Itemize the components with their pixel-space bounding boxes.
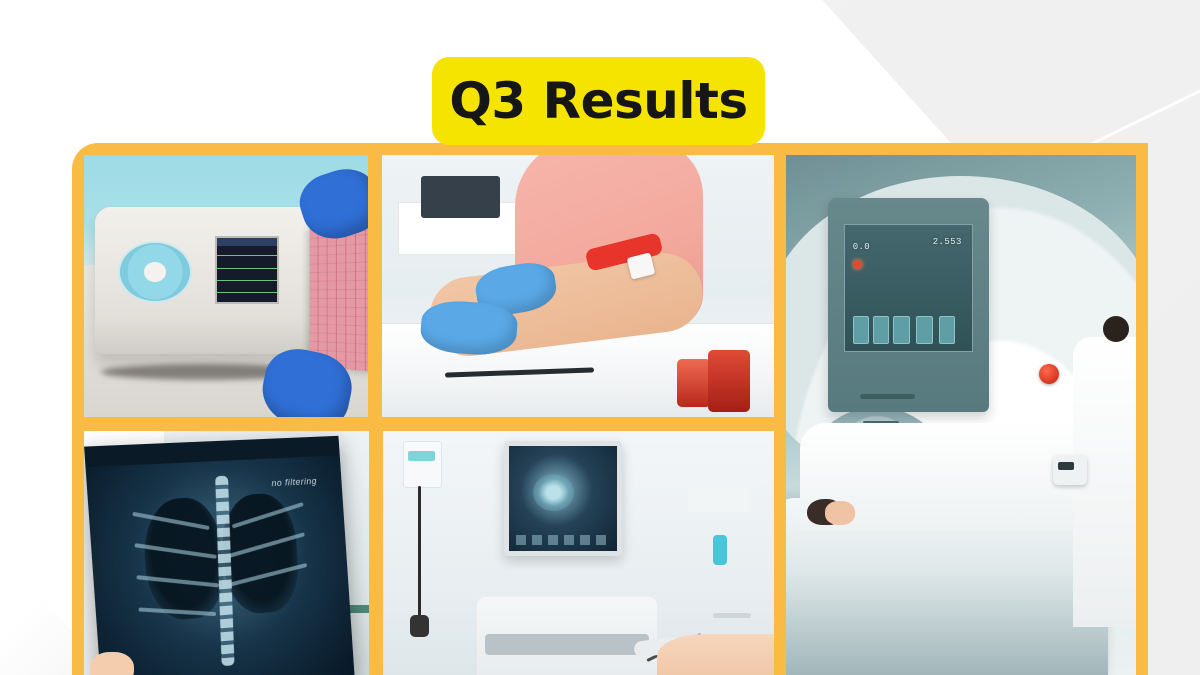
photo-ultrasound[interactable] (383, 431, 774, 675)
patient-face (825, 501, 855, 525)
sink-faucet (713, 613, 751, 618)
collage-top-row (84, 155, 774, 417)
wall-dispenser (403, 441, 442, 488)
collage-right-column: 0.0 2.553 (786, 155, 1136, 675)
ct-panel-vent (860, 394, 915, 399)
status-indicator-icon (853, 260, 862, 269)
xray-film-marking: no filtering (272, 476, 318, 488)
ct-panel-key[interactable] (916, 316, 932, 344)
ecg-screen (215, 236, 279, 304)
ecg-printout-paper (309, 219, 368, 374)
xray-film: no filtering (84, 436, 354, 675)
patient-abdomen (657, 634, 774, 675)
clinic-equipment-box (421, 176, 499, 218)
ecg-trace-line (217, 255, 277, 256)
ct-display-value-1: 0.0 (853, 242, 870, 252)
ct-panel-display: 0.0 2.553 (844, 224, 973, 353)
photo-ecg-machine[interactable] (84, 155, 368, 417)
collage-bottom-row: no filtering (84, 431, 774, 675)
ecg-trace-line (217, 292, 277, 293)
ecg-trace-line (217, 280, 277, 281)
ultrasound-screen-readout (516, 535, 610, 544)
ultrasound-screen (509, 446, 616, 550)
ct-panel-key[interactable] (893, 316, 909, 344)
ecg-screen-titlebar (217, 238, 277, 246)
photo-chest-xray[interactable]: no filtering (84, 431, 369, 675)
ultrasound-monitor (504, 441, 621, 555)
slide-canvas: no filtering (0, 0, 1200, 675)
ct-scene: 0.0 2.553 (786, 155, 1136, 675)
console-keyboard (485, 634, 649, 655)
ct-control-panel[interactable]: 0.0 2.553 (828, 198, 989, 412)
ct-panel-key[interactable] (853, 316, 869, 344)
photo-collage: no filtering (72, 143, 1148, 675)
hanging-cable (418, 486, 421, 621)
technician-head (1103, 316, 1129, 342)
photo-ct-scanner[interactable]: 0.0 2.553 (786, 155, 1136, 675)
handheld-remote[interactable] (1053, 455, 1087, 485)
ecg-trace-line (217, 268, 277, 269)
xray-scene: no filtering (84, 431, 369, 675)
ultrasound-scene (383, 431, 774, 675)
doctor-hand (90, 652, 134, 675)
blood-draw-scene (382, 155, 774, 417)
emergency-stop-button[interactable] (1039, 364, 1059, 384)
page-title: Q3 Results (449, 76, 747, 126)
ct-panel-key[interactable] (939, 316, 955, 344)
title-badge: Q3 Results (432, 57, 765, 145)
ultrasound-scan-image (533, 474, 574, 512)
blood-vial (677, 359, 711, 407)
ecg-scene (84, 155, 368, 417)
photo-blood-draw[interactable] (382, 155, 774, 417)
ct-panel-key[interactable] (873, 316, 889, 344)
collage-left-column: no filtering (84, 155, 774, 675)
gel-bottle (713, 535, 727, 565)
ct-display-value-2: 2.553 (933, 237, 962, 247)
blood-vial (708, 350, 750, 412)
wall-shelf (688, 488, 751, 511)
